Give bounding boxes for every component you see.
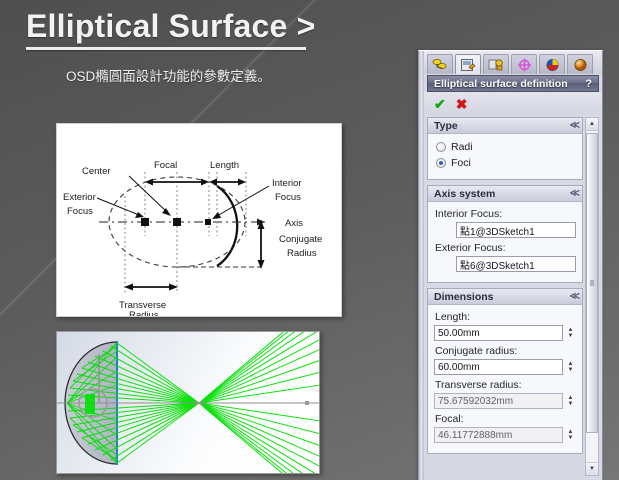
diagram-label-conjugate-2: Radius	[287, 248, 317, 259]
dimensions-group-body: Length: 50.00mm ▲▼ Conjugate radius: 60.…	[428, 305, 582, 453]
title-block: Elliptical Surface >	[26, 6, 315, 50]
diagram-label-exterior-1: Exterior	[63, 192, 96, 203]
length-input[interactable]: 50.00mm	[434, 325, 563, 341]
exterior-focus-label: Exterior Focus:	[435, 242, 576, 254]
page-title: Elliptical Surface >	[26, 6, 315, 46]
panel-tab-strip	[424, 51, 602, 74]
type-group-header[interactable]: Type ≪	[428, 118, 582, 134]
panel-scrollbar[interactable]: ▲ ▼	[585, 117, 599, 476]
stepper-down-icon[interactable]: ▼	[568, 334, 574, 339]
dimxpert-manager-tab[interactable]	[511, 54, 537, 74]
diagram-label-conjugate-1: Conjugate	[279, 234, 322, 245]
dimensions-group-title: Dimensions	[434, 291, 494, 303]
diagram-label-center: Center	[82, 166, 111, 177]
conjugate-radius-input[interactable]: 60.00mm	[434, 359, 563, 375]
scrollbar-track[interactable]	[586, 131, 598, 462]
panel-scroll-area: Type ≪ Radi Foci	[427, 117, 585, 476]
scroll-up-button[interactable]: ▲	[586, 118, 598, 131]
feature-manager-tab[interactable]	[427, 54, 453, 74]
length-stepper[interactable]: ▲▼	[565, 325, 576, 341]
help-button[interactable]: ?	[585, 78, 592, 90]
diagram-label-exterior-2: Focus	[67, 206, 93, 217]
panel-content: Type ≪ Radi Foci	[427, 117, 599, 476]
panel-title-text: Elliptical surface definition	[434, 78, 568, 90]
exterior-focus-row: 點6@3DSketch1	[434, 256, 576, 272]
conjugate-radius-stepper[interactable]: ▲▼	[565, 359, 576, 375]
scrollbar-thumb[interactable]	[586, 133, 598, 433]
focal-stepper: ▲▼	[565, 427, 576, 443]
diagram-label-focal: Focal	[154, 160, 177, 171]
interior-focus-input[interactable]: 點1@3DSketch1	[456, 222, 576, 238]
conjugate-radius-label: Conjugate radius:	[435, 345, 576, 357]
diagram-label-interior-2: Focus	[275, 192, 301, 203]
title-underline	[26, 47, 306, 50]
radio-foci-icon[interactable]	[436, 158, 446, 168]
dimensions-group-header[interactable]: Dimensions ≪	[428, 289, 582, 305]
appearances-tab[interactable]	[567, 54, 593, 74]
type-group-title: Type	[434, 120, 458, 132]
transverse-radius-row: 75.67592032mm ▲▼	[434, 393, 576, 409]
interior-focus-label: Interior Focus:	[435, 208, 576, 220]
orange-sphere-icon	[573, 58, 588, 72]
transverse-radius-input: 75.67592032mm	[434, 393, 563, 409]
radio-radi-icon[interactable]	[436, 142, 446, 152]
focal-input: 46.11772888mm	[434, 427, 563, 443]
axis-system-group-header[interactable]: Axis system ≪	[428, 186, 582, 202]
display-manager-tab[interactable]	[539, 54, 565, 74]
axis-system-group-title: Axis system	[434, 188, 495, 200]
stepper-down-icon[interactable]: ▼	[568, 368, 574, 373]
diagram-svg: Center Focal Length Interior Focus Exter…	[57, 124, 342, 317]
chevron-collapse-icon[interactable]: ≪	[570, 291, 578, 302]
cancel-button[interactable]: ✖	[456, 97, 468, 111]
type-group-body: Radi Foci	[428, 134, 582, 179]
length-label: Length:	[435, 311, 576, 323]
scrollbar-grip-icon	[590, 281, 594, 286]
color-sphere-icon	[545, 58, 560, 72]
panel-title-bar: Elliptical surface definition ?	[427, 75, 599, 92]
raytrace-viewport	[56, 331, 320, 474]
crosshair-target-icon	[517, 58, 532, 72]
conjugate-radius-row: 60.00mm ▲▼	[434, 359, 576, 375]
length-row: 50.00mm ▲▼	[434, 325, 576, 341]
property-manager-tab[interactable]	[455, 54, 481, 74]
diagram-label-interior-1: Interior	[272, 178, 302, 189]
panel-action-bar: ✔ ✖	[424, 92, 602, 114]
chevron-collapse-icon[interactable]: ≪	[570, 120, 578, 131]
chevron-collapse-icon[interactable]: ≪	[570, 188, 578, 199]
axis-system-group-body: Interior Focus: 點1@3DSketch1 Exterior Fo…	[428, 202, 582, 282]
stepper-down-icon: ▼	[568, 402, 574, 407]
diagram-label-length: Length	[210, 160, 239, 171]
focal-label: Focal:	[435, 413, 576, 425]
scroll-down-button[interactable]: ▼	[586, 462, 598, 475]
focal-row: 46.11772888mm ▲▼	[434, 427, 576, 443]
stepper-up-icon[interactable]: ▲	[568, 362, 574, 367]
diagram-label-axis: Axis	[285, 218, 303, 229]
radio-option-radi[interactable]: Radi	[436, 141, 576, 153]
interior-focus-row: 點1@3DSketch1	[434, 222, 576, 238]
slide-subtitle: OSD橢圓面設計功能的參數定義。	[66, 65, 271, 85]
stepper-down-icon: ▼	[568, 436, 574, 441]
configuration-icon	[488, 58, 504, 72]
stepper-up-icon: ▲	[568, 430, 574, 435]
transverse-radius-label: Transverse radius:	[435, 379, 576, 391]
diagram-label-transverse-2: Radius	[129, 310, 159, 317]
property-manager-panel: Elliptical surface definition ? ✔ ✖ Type…	[418, 50, 603, 480]
radio-foci-label: Foci	[451, 157, 471, 169]
raytrace-svg	[57, 332, 320, 474]
panel-body: Elliptical surface definition ? ✔ ✖ Type…	[424, 51, 602, 480]
ellipse-definition-diagram: Center Focal Length Interior Focus Exter…	[56, 123, 342, 317]
configuration-manager-tab[interactable]	[483, 54, 509, 74]
property-clipboard-icon	[460, 58, 476, 72]
stepper-up-icon: ▲	[568, 396, 574, 401]
radio-radi-label: Radi	[451, 141, 473, 153]
transverse-radius-stepper: ▲▼	[565, 393, 576, 409]
type-group: Type ≪ Radi Foci	[427, 117, 583, 180]
exterior-focus-input[interactable]: 點6@3DSketch1	[456, 256, 576, 272]
dimensions-group: Dimensions ≪ Length: 50.00mm ▲▼ Conjugat…	[427, 288, 583, 454]
confirm-button[interactable]: ✔	[434, 97, 446, 111]
radio-option-foci[interactable]: Foci	[436, 157, 576, 169]
axis-system-group: Axis system ≪ Interior Focus: 點1@3DSketc…	[427, 185, 583, 283]
stepper-up-icon[interactable]: ▲	[568, 328, 574, 333]
feature-tree-icon	[432, 58, 449, 72]
